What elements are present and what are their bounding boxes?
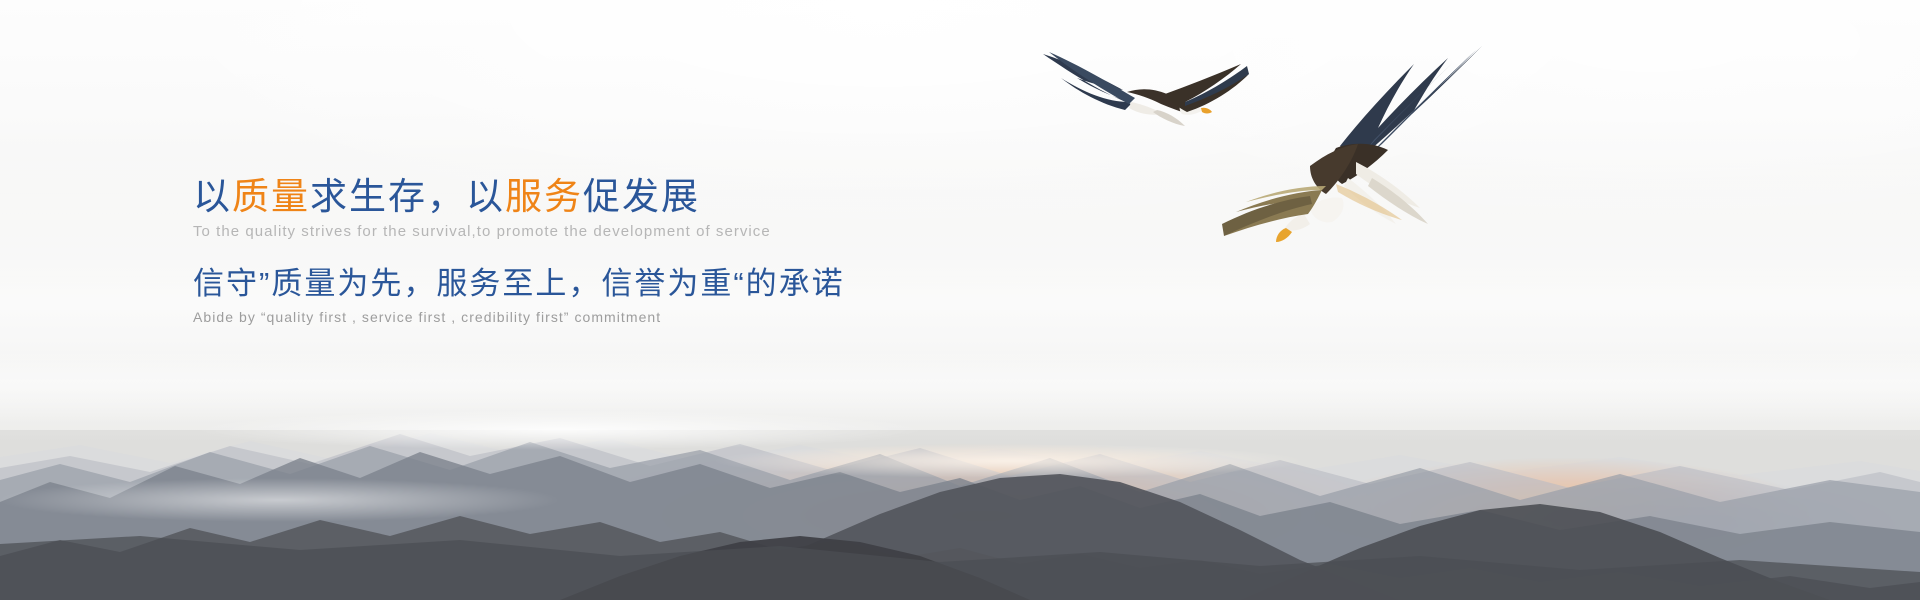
foreground-shadow <box>0 500 1920 600</box>
mountain-foreground <box>0 436 1920 600</box>
headline-part-1: 以 <box>193 176 232 217</box>
slogan-headline-secondary: 信守”质量为先，服务至上，信誉为重“的承诺 <box>193 266 1193 302</box>
hero-banner: 以质量求生存，以服务促发展 To the quality strives for… <box>0 0 1920 600</box>
mountain-ridge-mid-far <box>0 372 1920 600</box>
slogan-subtitle-secondary: Abide by “quality first , service first … <box>193 309 1193 325</box>
fog-band-upper <box>0 352 1920 422</box>
mountain-ridge-mid <box>0 394 1920 600</box>
fog-band-left <box>120 404 1220 456</box>
headline-highlight-quality: 质量 <box>232 176 310 217</box>
fog-band-center <box>560 438 1460 484</box>
sunset-glow-right <box>1180 430 1920 600</box>
mountain-massif-center <box>0 398 1920 600</box>
slogan-copy-block: 以质量求生存，以服务促发展 To the quality strives for… <box>193 176 1193 325</box>
eagle-icon-small <box>1035 48 1260 148</box>
headline-part-3: 促发展 <box>583 176 700 217</box>
sunset-glow-center <box>520 392 1620 592</box>
slogan-subtitle-primary: To the quality strives for the survival,… <box>193 223 1193 240</box>
mountain-ridge-far <box>0 345 1920 600</box>
headline-highlight-service: 服务 <box>505 176 583 217</box>
cool-glow-right <box>1330 452 1920 600</box>
eagle-icon-large <box>1160 38 1490 250</box>
mountain-ridge-near-left <box>0 412 1920 600</box>
fog-band-lowleft <box>0 470 820 530</box>
slogan-headline-primary: 以质量求生存，以服务促发展 <box>193 176 1193 217</box>
headline-part-2: 求生存，以 <box>310 176 505 217</box>
